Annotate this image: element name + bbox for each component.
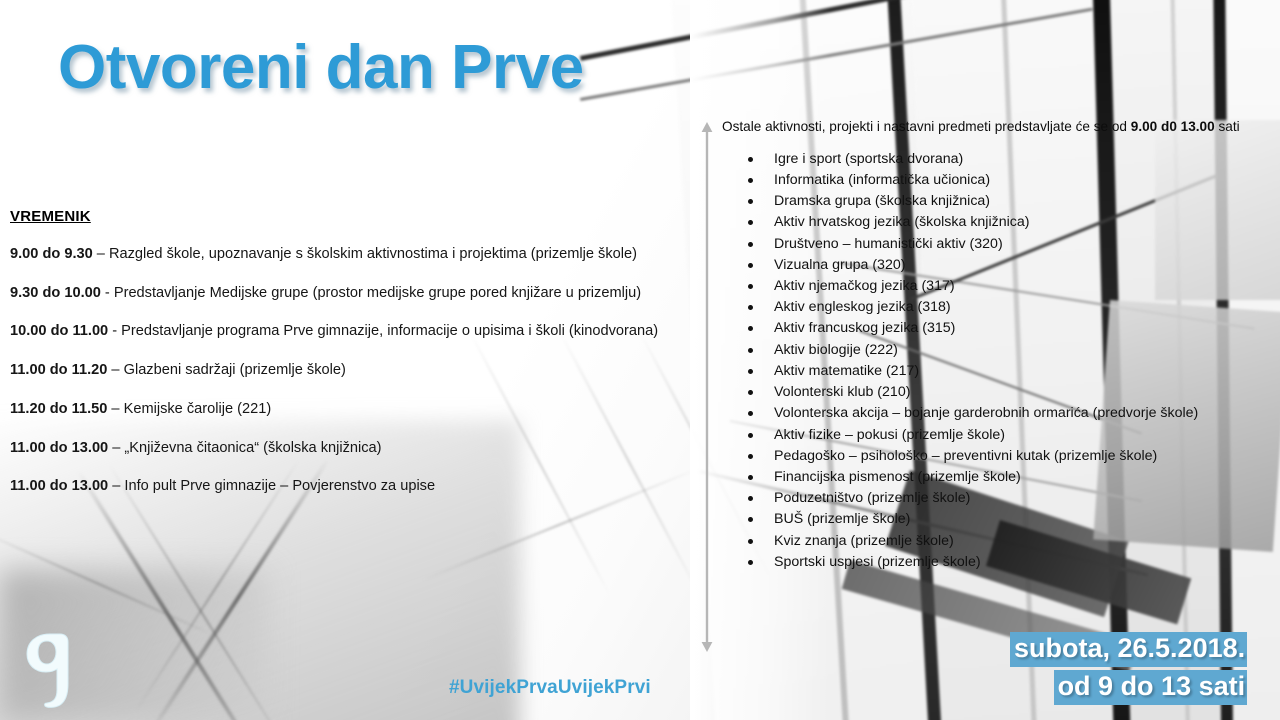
activity-list-item: Aktiv njemačkog jezika (317) bbox=[722, 276, 1280, 297]
schedule-item-description: - Predstavljanje programa Prve gimnazije… bbox=[108, 323, 658, 339]
schedule-item-time: 9.00 do 9.30 bbox=[10, 246, 93, 262]
schedule-item: 11.00 do 11.20 – Glazbeni sadržaji (priz… bbox=[10, 360, 700, 381]
schedule-item: 10.00 do 11.00 - Predstavljanje programa… bbox=[10, 321, 700, 342]
schedule-item: 9.00 do 9.30 – Razgled škole, upoznavanj… bbox=[10, 244, 700, 265]
hashtag-label: #UvijekPrvaUvijekPrvi bbox=[449, 677, 651, 699]
schedule-item-time: 11.20 do 11.50 bbox=[10, 401, 107, 417]
event-date-badge: subota, 26.5.2018. od 9 do 13 sati bbox=[1010, 632, 1247, 705]
schedule-item: 11.20 do 11.50 – Kemijske čarolije (221) bbox=[10, 399, 700, 420]
activity-list-item: Aktiv francuskog jezika (315) bbox=[722, 318, 1280, 339]
activity-list-item: Sportski uspjesi (prizemlje škole) bbox=[722, 552, 1280, 573]
schedule-item-description: – Razgled škole, upoznavanje s školskim … bbox=[93, 246, 637, 262]
schedule-item-description: – Kemijske čarolije (221) bbox=[107, 401, 271, 417]
activity-list-item: Aktiv matematike (217) bbox=[722, 361, 1280, 382]
schedule-item-time: 10.00 do 11.00 bbox=[10, 323, 108, 339]
activity-list-item: Volonterski klub (210) bbox=[722, 382, 1280, 403]
activities-intro: Ostale aktivnosti, projekti i nastavni p… bbox=[722, 118, 1280, 136]
school-logo bbox=[14, 628, 90, 712]
activity-list-item: Dramska grupa (školska knjižnica) bbox=[722, 191, 1280, 212]
schedule-item-description: – „Književna čitaonica“ (školska knjižni… bbox=[108, 440, 381, 456]
activities-intro-time: 9.00 d0 13.00 bbox=[1131, 119, 1215, 134]
activities-bullet-list: Igre i sport (sportska dvorana)Informati… bbox=[722, 149, 1280, 573]
schedule-item-time: 11.00 do 13.00 bbox=[10, 440, 108, 456]
schedule-item-description: – Glazbeni sadržaji (prizemlje škole) bbox=[107, 362, 345, 378]
activity-list-item: Financijska pismenost (prizemlje škole) bbox=[722, 467, 1280, 488]
schedule-item: 11.00 do 13.00 – „Književna čitaonica“ (… bbox=[10, 438, 700, 459]
schedule-item-time: 11.00 do 11.20 bbox=[10, 362, 107, 378]
activity-list-item: Aktiv fizike – pokusi (prizemlje škole) bbox=[722, 425, 1280, 446]
schedule-item-description: – Info pult Prve gimnazije – Povjerenstv… bbox=[108, 478, 435, 494]
activity-list-item: Igre i sport (sportska dvorana) bbox=[722, 149, 1280, 170]
vertical-divider-arrow bbox=[700, 122, 714, 652]
activity-list-item: Informatika (informatička učionica) bbox=[722, 170, 1280, 191]
activity-list-item: Aktiv hrvatskog jezika (školska knjižnic… bbox=[722, 212, 1280, 233]
activity-list-item: Društveno – humanistički aktiv (320) bbox=[722, 234, 1280, 255]
activities-intro-after: sati bbox=[1215, 119, 1240, 134]
schedule-item: 11.00 do 13.00 – Info pult Prve gimnazij… bbox=[10, 476, 700, 497]
activity-list-item: Aktiv biologije (222) bbox=[722, 340, 1280, 361]
schedule-item-time: 11.00 do 13.00 bbox=[10, 478, 108, 494]
activities-section: Ostale aktivnosti, projekti i nastavni p… bbox=[722, 118, 1280, 573]
activity-list-item: Aktiv engleskog jezika (318) bbox=[722, 297, 1280, 318]
event-hours: od 9 do 13 sati bbox=[1054, 670, 1248, 705]
schedule-item-description: - Predstavljanje Medijske grupe (prostor… bbox=[101, 285, 641, 301]
schedule-item-list: 9.00 do 9.30 – Razgled škole, upoznavanj… bbox=[10, 244, 700, 497]
activity-list-item: Kviz znanja (prizemlje škole) bbox=[722, 531, 1280, 552]
schedule-item: 9.30 do 10.00 - Predstavljanje Medijske … bbox=[10, 283, 700, 304]
page-title: Otvoreni dan Prve bbox=[58, 32, 584, 103]
schedule-section: VREMENIK 9.00 do 9.30 – Razgled škole, u… bbox=[10, 208, 700, 515]
activity-list-item: Poduzetništvo (prizemlje škole) bbox=[722, 488, 1280, 509]
event-date: subota, 26.5.2018. bbox=[1010, 632, 1247, 667]
activity-list-item: Vizualna grupa (320) bbox=[722, 255, 1280, 276]
activities-intro-before: Ostale aktivnosti, projekti i nastavni p… bbox=[722, 119, 1131, 134]
activity-list-item: Volonterska akcija – bojanje garderobnih… bbox=[722, 403, 1280, 424]
schedule-item-time: 9.30 do 10.00 bbox=[10, 285, 101, 301]
activity-list-item: BUŠ (prizemlje škole) bbox=[722, 509, 1280, 530]
activity-list-item: Pedagoško – psihološko – preventivni kut… bbox=[722, 446, 1280, 467]
presentation-slide: Otvoreni dan Prve VREMENIK 9.00 do 9.30 … bbox=[0, 0, 1280, 720]
schedule-heading: VREMENIK bbox=[10, 208, 700, 225]
